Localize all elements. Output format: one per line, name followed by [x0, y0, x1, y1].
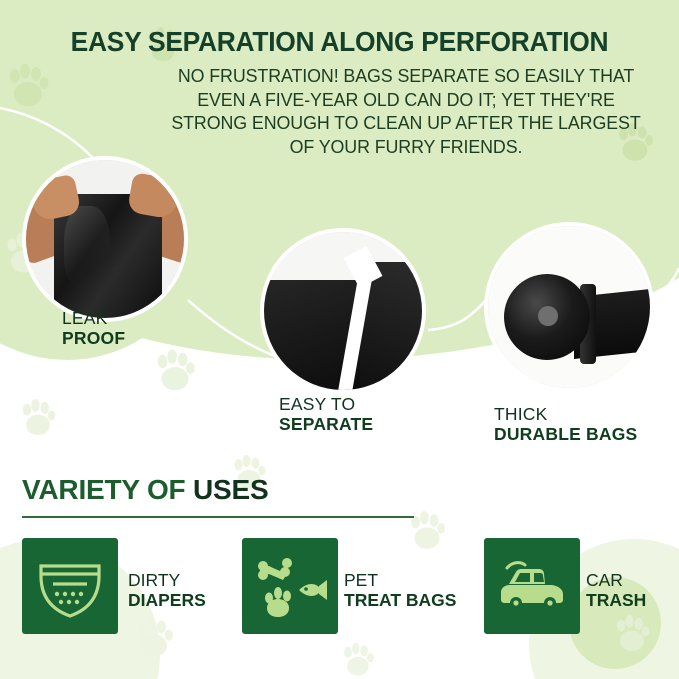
- feature-photo-easy-separate: [260, 228, 426, 394]
- page-subtitle: NO FRUSTRATION! BAGS SEPARATE SO EASILY …: [158, 64, 655, 158]
- use-label-line2: DIAPERS: [128, 590, 206, 610]
- feature-label-leak-proof: LEAK PROOF: [62, 308, 125, 348]
- section-title-variety-of-uses: VARIETY OF USES: [22, 474, 268, 506]
- feature-label-line1: EASY TO: [279, 394, 355, 414]
- use-tile-dirty-diapers: [22, 538, 118, 634]
- use-tile-pet-treat-bags: [242, 538, 338, 634]
- use-label-car-trash: CAR TRASH: [586, 570, 646, 610]
- use-label-line1: PET: [344, 570, 378, 590]
- pet-treats-icon: [251, 546, 329, 624]
- car-icon: [493, 546, 571, 624]
- feature-label-line1: THICK: [494, 404, 548, 424]
- use-label-line1: CAR: [586, 570, 623, 590]
- feature-label-line2: DURABLE BAGS: [494, 424, 637, 444]
- feature-label-line2: PROOF: [62, 328, 125, 348]
- use-label-line2: TREAT BAGS: [344, 590, 456, 610]
- feature-label-thick-durable: THICK DURABLE BAGS: [494, 404, 637, 444]
- feature-photo-thick-durable: [484, 222, 654, 392]
- diaper-icon: [31, 546, 109, 624]
- use-label-dirty-diapers: DIRTY DIAPERS: [128, 570, 206, 610]
- feature-photo-leak-proof: [22, 156, 188, 322]
- section-title-rest: USES: [185, 474, 268, 505]
- feature-label-easy-separate: EASY TO SEPARATE: [279, 394, 373, 434]
- use-tile-car-trash: [484, 538, 580, 634]
- use-label-line1: DIRTY: [128, 570, 180, 590]
- section-divider: [22, 516, 414, 518]
- infographic-page: EASY SEPARATION ALONG PERFORATION NO FRU…: [0, 0, 679, 679]
- page-title: EASY SEPARATION ALONG PERFORATION: [14, 26, 666, 58]
- section-title-strong: VARIETY OF: [22, 474, 185, 505]
- use-label-line2: TRASH: [586, 590, 646, 610]
- feature-label-line1: LEAK: [62, 308, 108, 328]
- feature-label-line2: SEPARATE: [279, 414, 373, 434]
- use-label-pet-treat-bags: PET TREAT BAGS: [344, 570, 456, 610]
